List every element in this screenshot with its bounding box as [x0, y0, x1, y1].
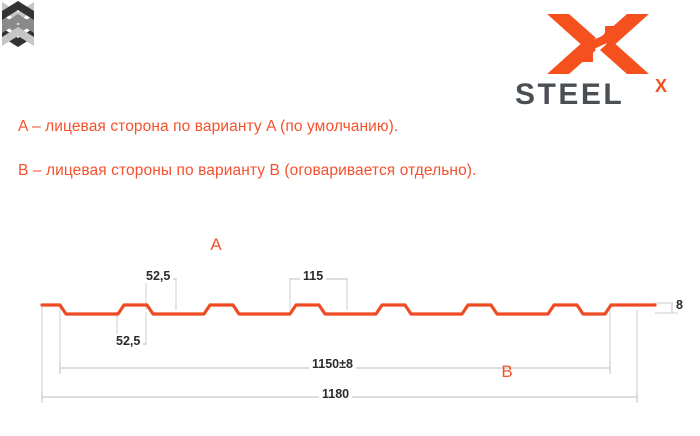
marker-b-letter: B [492, 362, 522, 382]
dim-label-valley-width: 52,5 [113, 334, 143, 348]
dim-label-total-width: 1180 [319, 387, 352, 401]
profile-drawing-page: STEEL X A – лицевая сторона по варианту … [0, 0, 700, 436]
dim-label-pitch: 115 [300, 269, 326, 283]
marker-a-letter: A [201, 235, 231, 255]
dim-label-useful-width: 1150±8 [309, 357, 356, 371]
dim-label-rib-width: 52,5 [143, 269, 173, 283]
dim-label-height: 8 [673, 298, 686, 312]
corrugated-profile-line [42, 305, 655, 314]
